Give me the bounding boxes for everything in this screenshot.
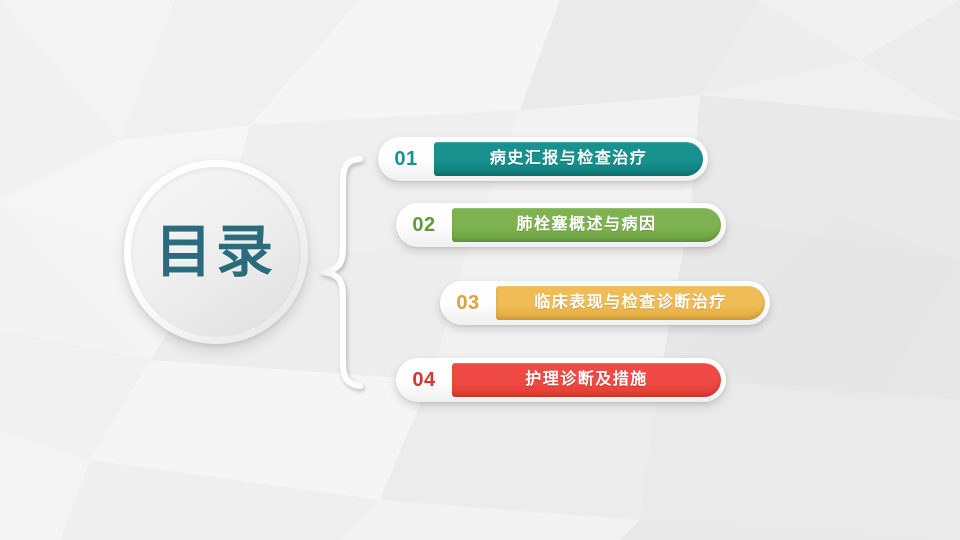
agenda-item-label: 护理诊断及措施 xyxy=(525,372,648,388)
agenda-item-label: 临床表现与检查诊断治疗 xyxy=(534,295,727,311)
agenda-item-bar: 病史汇报与检查治疗 xyxy=(434,142,703,176)
brace-connector xyxy=(314,150,372,395)
agenda-slide: 目录 01 病史汇报与检查治疗 02 肺栓塞概述与病因 03 xyxy=(0,0,960,540)
agenda-item-label: 病史汇报与检查治疗 xyxy=(490,151,648,167)
agenda-item-04[interactable]: 04 护理诊断及措施 xyxy=(396,358,726,402)
agenda-item-bar: 临床表现与检查诊断治疗 xyxy=(496,286,765,320)
agenda-item-number: 02 xyxy=(396,215,452,235)
circle-outer-ring: 目录 xyxy=(124,160,308,344)
agenda-item-bar: 护理诊断及措施 xyxy=(452,363,721,397)
agenda-item-bar: 肺栓塞概述与病因 xyxy=(452,208,721,242)
agenda-item-number: 04 xyxy=(396,370,452,390)
agenda-item-number: 03 xyxy=(440,293,496,313)
agenda-item-label: 肺栓塞概述与病因 xyxy=(516,217,656,233)
circle-inner-face: 目录 xyxy=(131,167,301,337)
agenda-item-03[interactable]: 03 临床表现与检查诊断治疗 xyxy=(440,281,770,325)
agenda-circle: 目录 xyxy=(124,160,308,344)
agenda-item-02[interactable]: 02 肺栓塞概述与病因 xyxy=(396,203,726,247)
page-title: 目录 xyxy=(155,224,277,281)
agenda-item-01[interactable]: 01 病史汇报与检查治疗 xyxy=(378,137,708,181)
agenda-item-number: 01 xyxy=(378,149,434,169)
